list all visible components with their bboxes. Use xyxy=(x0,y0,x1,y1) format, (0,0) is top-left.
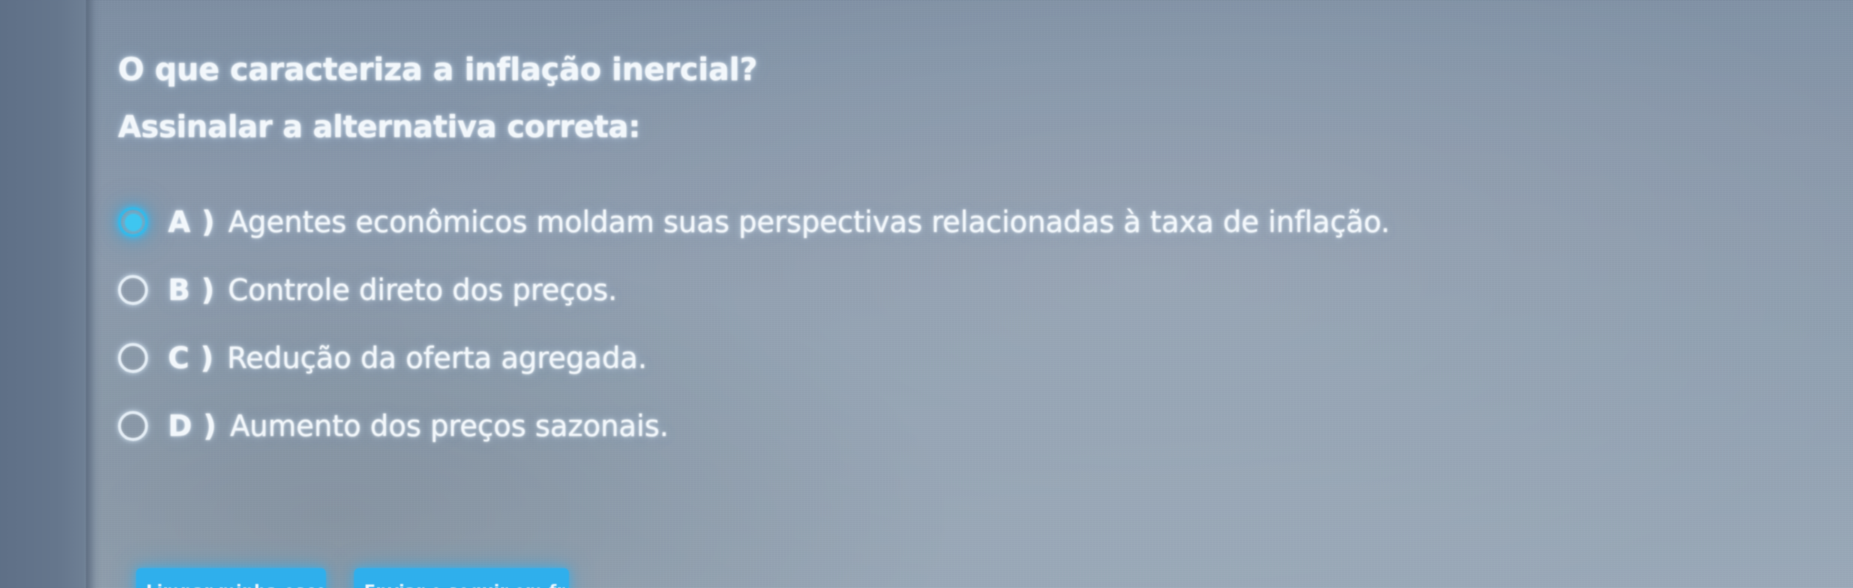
radio-selected-icon[interactable] xyxy=(118,207,148,237)
question-prompt: O que caracteriza a inflação inercial? xyxy=(118,52,757,88)
option-text-b: Controle direto dos preços. xyxy=(228,273,617,307)
action-bar: Limpar minha escolha Enviar e seguir em … xyxy=(136,568,569,588)
radio-unselected-icon[interactable] xyxy=(118,343,148,373)
option-letter-b: B ) xyxy=(168,273,215,307)
options-list: A ) Agentes econômicos moldam suas persp… xyxy=(118,188,1853,460)
radio-unselected-icon[interactable] xyxy=(118,411,148,441)
option-letter-d: D ) xyxy=(168,409,217,443)
left-sidebar-band xyxy=(0,0,97,588)
option-text-d: Aumento dos preços sazonais. xyxy=(230,409,669,443)
clear-choice-button[interactable]: Limpar minha escolha xyxy=(136,568,326,588)
option-row-b[interactable]: B ) Controle direto dos preços. xyxy=(118,256,1853,324)
left-sidebar-edge xyxy=(86,0,102,588)
question-instruction: Assinalar a alternativa correta: xyxy=(118,110,640,145)
option-text-a: Agentes econômicos moldam suas perspecti… xyxy=(228,205,1390,239)
quiz-screen-photo: O que caracteriza a inflação inercial? A… xyxy=(0,0,1853,588)
option-row-d[interactable]: D ) Aumento dos preços sazonais. xyxy=(118,392,1853,460)
submit-and-continue-button[interactable]: Enviar e seguir em frente xyxy=(354,568,569,588)
quiz-content: O que caracteriza a inflação inercial? A… xyxy=(118,0,1853,588)
option-row-c[interactable]: C ) Redução da oferta agregada. xyxy=(118,324,1853,392)
option-letter-a: A ) xyxy=(168,205,215,239)
option-text-c: Redução da oferta agregada. xyxy=(227,341,647,375)
option-letter-c: C ) xyxy=(168,341,214,375)
option-row-a[interactable]: A ) Agentes econômicos moldam suas persp… xyxy=(118,188,1853,256)
radio-unselected-icon[interactable] xyxy=(118,275,148,305)
